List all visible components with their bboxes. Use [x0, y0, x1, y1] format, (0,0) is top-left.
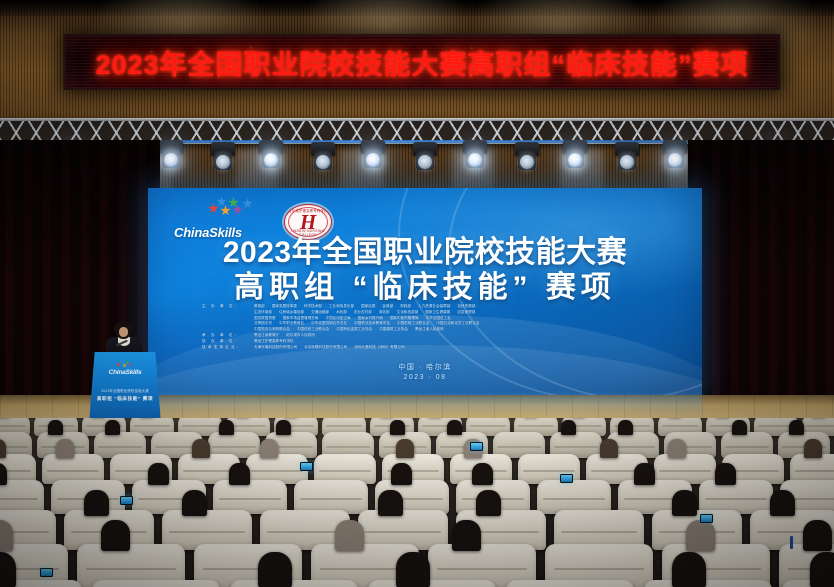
organizer-name: 中国纺织工业联合会 — [297, 327, 329, 331]
audience-seat — [294, 480, 368, 514]
audience-member — [789, 420, 804, 436]
audience-member — [476, 490, 501, 516]
podium-marks-icon — [115, 359, 135, 368]
audience-member — [192, 439, 210, 458]
stage-light — [662, 140, 688, 170]
organizer-names: 国务院国资委国家市场监督管理总局中国民用航空局国家乡村振兴局国家中医药管理局中华… — [254, 316, 458, 320]
college-emblem-icon: 哈尔滨护理高等专科学校 H HARBIN NURSING COLLEGE — [284, 204, 332, 240]
audience-member — [101, 520, 130, 550]
audience-seat — [230, 580, 358, 587]
organizer-name: 生态环境部 — [254, 310, 272, 314]
audience-member — [378, 490, 403, 516]
organizer-name: 人力资源社会保障部 — [418, 304, 450, 308]
speaker-person — [96, 322, 154, 356]
audience-member — [672, 490, 697, 516]
audience-member — [148, 463, 169, 485]
podium-wordmark: ChinaSkills — [88, 369, 162, 376]
audience-member — [105, 420, 120, 436]
audience-member — [668, 439, 686, 458]
organizer-name: 水利部 — [336, 310, 347, 314]
organizer-name: 中华职业教育社 — [279, 321, 304, 325]
audience-member — [396, 552, 430, 587]
organizer-name: 科学技术部 — [304, 304, 322, 308]
audience-member — [56, 439, 74, 458]
organizer-name: 中国机械工业联合会 — [397, 321, 429, 325]
organizer-name: 应急管理部 — [457, 310, 475, 314]
organizer-name: 自然资源部 — [457, 304, 475, 308]
organizer-name: 天津天堰科技股份有限公司 — [254, 345, 297, 349]
audience-phone-screen — [560, 474, 573, 483]
chinaskills-logo: ChinaSkills — [174, 196, 270, 240]
screen-title: 2023年全国职业院校技能大赛 高职组 “临床技能” 赛项 — [148, 236, 702, 306]
organizer-label: 主 办 单 位： — [202, 304, 254, 310]
organizer-name: 黑龙江省教育厅 — [254, 333, 279, 337]
organizer-name: 哈尔滨市人民政府 — [286, 333, 315, 337]
audience-member — [335, 520, 364, 550]
organizer-name: 中国建筑工业协会 — [379, 327, 408, 331]
organizer-name: 国务院国资委 — [254, 316, 276, 320]
stage-light — [412, 142, 438, 172]
audience-seat — [537, 480, 611, 514]
ceiling-shadow — [0, 0, 834, 16]
audience-member — [804, 439, 822, 458]
stage-light — [258, 140, 284, 170]
audience-seat — [368, 580, 496, 587]
audience-member — [219, 420, 234, 436]
organizer-name: 中国有色金属工业协会 — [336, 327, 372, 331]
organizer-names: 教育部国家发展改革委科学技术部工业和信息化部国家民委民政部财政部人力资源社会保障… — [254, 304, 482, 308]
audience-member — [84, 490, 109, 516]
audience-phone-screen — [120, 496, 133, 505]
organizer-name: 住房城乡建设部 — [279, 310, 304, 314]
audience-seat — [699, 480, 773, 514]
audience-phone-screen — [300, 462, 313, 471]
audience-member — [391, 463, 412, 485]
audience-member — [770, 490, 795, 516]
podium-line2: 高职组 “临床技能” 赛项 — [88, 396, 162, 402]
audience-member — [182, 490, 207, 516]
chinaskills-marks-icon — [202, 196, 264, 218]
organizer-name: 商务部 — [379, 310, 390, 314]
organizer-name: 中华全国供销合作总社 — [311, 321, 347, 325]
truss-lattice — [0, 121, 834, 141]
audience-member — [618, 420, 633, 436]
organizer-name: 国家卫生健康委 — [425, 310, 450, 314]
organizer-name: 黑龙江省人民政府 — [415, 327, 444, 331]
organizer-name: 中国职业技术教育学会 — [354, 321, 390, 325]
screen-logo-row: ChinaSkills 哈尔滨护理高等专科学校 H HARBIN NURSING… — [174, 196, 332, 240]
stage-light — [462, 140, 488, 170]
screen-title-line2: 高职组 “临床技能” 赛项 — [148, 271, 702, 306]
audience-seat — [0, 480, 44, 514]
organizer-name: 工业和信息化部 — [329, 304, 354, 308]
audience-member — [229, 463, 250, 485]
organizer-names: 中国物流与采购联合会中国纺织工业联合会中国有色金属工业协会中国建筑工业协会黑龙江… — [254, 327, 451, 331]
attendee-lanyard — [790, 536, 793, 549]
auditorium-scene: 2023年全国职业院校技能大赛高职组“临床技能”赛项 — [0, 0, 834, 587]
audience-seat — [506, 580, 634, 587]
organizer-name: 财政部 — [400, 304, 411, 308]
audience-member — [276, 420, 291, 436]
audience-member — [260, 439, 278, 458]
organizer-name: 国家中医药管理局 — [390, 316, 419, 320]
organizer-names: 黑龙江省教育厅哈尔滨市人民政府 — [254, 333, 322, 337]
audience-member — [600, 439, 618, 458]
stage-light — [562, 140, 588, 170]
truss-rail-top — [0, 118, 834, 121]
podium-logo: ChinaSkills — [88, 359, 162, 376]
organizer-line: 技术支持企业：天津天堰科技股份有限公司北京医模科技股份有限公司深圳大爱科技（深圳… — [202, 345, 648, 351]
organizer-name: 中华全国总工会 — [426, 316, 451, 320]
organizer-name: 中国物流与采购联合会 — [254, 327, 290, 331]
organizer-names: 天津天堰科技股份有限公司北京医模科技股份有限公司深圳大爱科技（深圳）有限公司 — [254, 345, 412, 349]
organizer-name: 中国民用航空局 — [326, 316, 351, 320]
organizer-names: 生态环境部住房城乡建设部交通运输部水利部农业农村部商务部文化和旅游部国家卫生健康… — [254, 310, 482, 314]
organizer-name: 教育部 — [254, 304, 265, 308]
stage-light — [614, 142, 640, 172]
audience-seat — [213, 480, 287, 514]
organizer-names: 黑龙江护理高等专科学校 — [254, 339, 301, 343]
organizer-name: 交通运输部 — [311, 310, 329, 314]
audience-member — [472, 463, 493, 485]
audience-member — [672, 552, 706, 587]
audience-member — [447, 420, 462, 436]
audience-phone-screen — [700, 514, 713, 523]
audience-member — [48, 420, 63, 436]
audience-member — [634, 463, 655, 485]
audience-phone-screen — [470, 442, 483, 451]
organizer-name: 农业农村部 — [354, 310, 372, 314]
organizer-name: 北京医模科技股份有限公司 — [304, 345, 347, 349]
organizer-label: 技术支持企业： — [202, 345, 254, 351]
footer-date: 2023 · 08 — [148, 373, 702, 383]
screen-title-line1: 2023年全国职业院校技能大赛 — [148, 236, 702, 269]
audience-member — [732, 420, 747, 436]
audience-seat — [92, 580, 220, 587]
organizer-name: 共青团中央 — [254, 321, 272, 325]
organizer-name: 文化和旅游部 — [397, 310, 419, 314]
organizer-name: 中国石油和化学工业联合会 — [436, 321, 479, 325]
organizer-names: 共青团中央中华职业教育社中华全国供销合作总社中国职业技术教育学会中国机械工业联合… — [254, 321, 486, 325]
audience-member — [810, 552, 834, 587]
audience-member — [258, 552, 292, 587]
audience-member — [561, 420, 576, 436]
audience-member — [396, 439, 414, 458]
audience-member — [803, 520, 832, 550]
podium-line1: 2023年全国职业院校技能大赛 — [88, 388, 162, 393]
organizer-name: 国家发展改革委 — [272, 304, 297, 308]
stage-light — [360, 140, 386, 170]
stage-floor-reflection — [148, 395, 702, 417]
audience-member — [390, 420, 405, 436]
screen-footer: 中国 · 哈尔滨 2023 · 08 — [148, 363, 702, 383]
audience-seat — [644, 580, 772, 587]
audience-phone-screen — [40, 568, 53, 577]
emblem-letter: H — [300, 212, 316, 233]
organizer-name: 深圳大爱科技（深圳）有限公司 — [354, 345, 404, 349]
audience-area — [0, 418, 834, 587]
organizer-list: 主 办 单 位：教育部国家发展改革委科学技术部工业和信息化部国家民委民政部财政部… — [148, 304, 702, 351]
audience-member — [452, 520, 481, 550]
stage-light — [158, 140, 184, 170]
organizer-name: 民政部 — [382, 304, 393, 308]
organizer-name: 黑龙江护理高等专科学校 — [254, 339, 294, 343]
stage-light — [310, 142, 336, 172]
led-banner: 2023年全国职业院校技能大赛高职组“临床技能”赛项 — [64, 34, 780, 90]
organizer-name: 国家市场监督管理总局 — [283, 316, 319, 320]
audience-member — [686, 520, 715, 550]
organizer-name: 国家乡村振兴局 — [358, 316, 383, 320]
stage-light — [514, 142, 540, 172]
organizer-name: 国家民委 — [361, 304, 375, 308]
main-led-screen: ChinaSkills 哈尔滨护理高等专科学校 H HARBIN NURSING… — [148, 188, 702, 395]
footer-city: 中国 · 哈尔滨 — [148, 363, 702, 373]
stage-light — [210, 142, 236, 172]
led-banner-text: 2023年全国职业院校技能大赛高职组“临床技能”赛项 — [95, 43, 748, 82]
audience-member — [0, 439, 6, 458]
audience-member — [715, 463, 736, 485]
